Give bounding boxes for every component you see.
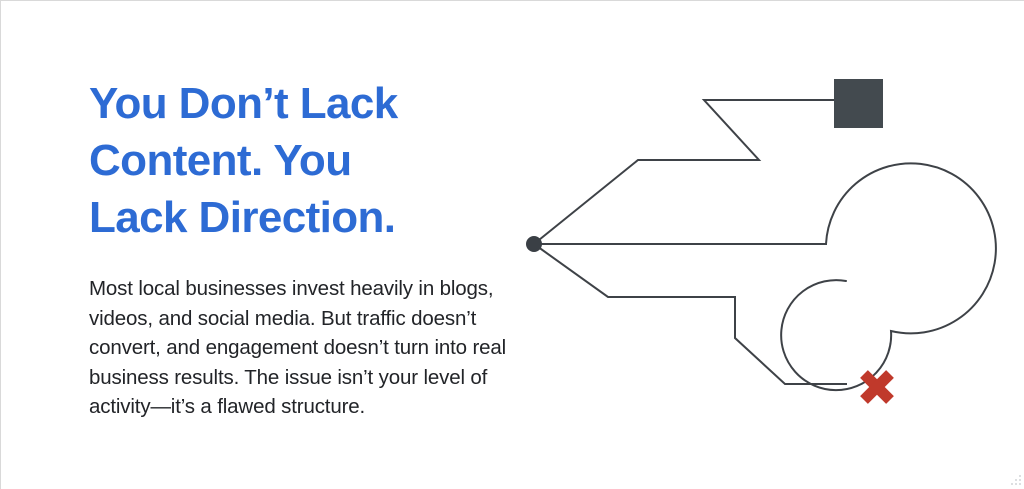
branching-paths-illustration bbox=[506, 56, 1016, 426]
slide-canvas: You Don’t Lack Content. You Lack Directi… bbox=[0, 0, 1024, 489]
dark-square-endpoint bbox=[834, 79, 883, 128]
origin-node-dot bbox=[526, 236, 542, 252]
upper-branch-path bbox=[534, 100, 834, 244]
diagram-svg bbox=[506, 56, 1016, 426]
resize-grip-icon[interactable] bbox=[1009, 474, 1022, 487]
body-paragraph: Most local businesses invest heavily in … bbox=[89, 274, 509, 422]
page-title: You Don’t Lack Content. You Lack Directi… bbox=[89, 75, 509, 246]
text-column: You Don’t Lack Content. You Lack Directi… bbox=[89, 75, 509, 422]
spiral-loop-endpoint bbox=[781, 163, 996, 390]
lower-branch-path bbox=[534, 244, 846, 384]
red-x-endpoint bbox=[864, 374, 890, 400]
